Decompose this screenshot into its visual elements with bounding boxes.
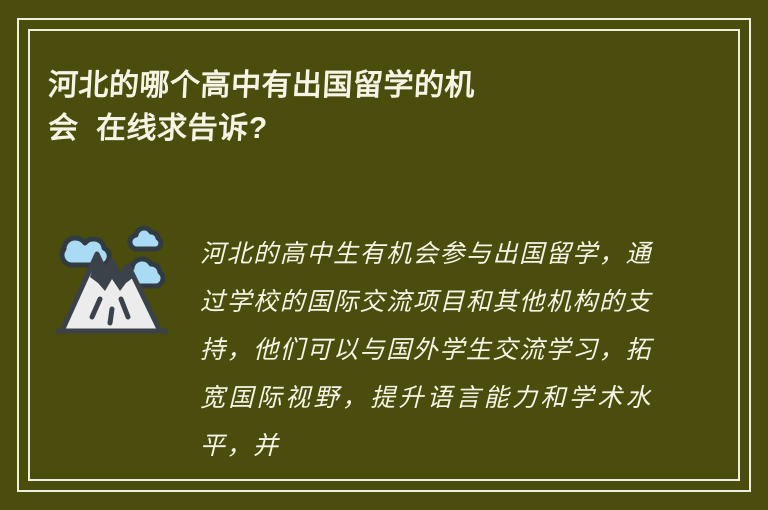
title-line-1: 河北的哪个高中有出国留学的机	[47, 64, 649, 107]
page-title: 河北的哪个高中有出国留学的机 会 在线求告诉?	[48, 64, 648, 150]
body-paragraph: 河北的高中生有机会参与出国留学，通过学校的国际交流项目和其他机构的支持，他们可以…	[200, 230, 652, 470]
cloud-top-right-icon	[130, 228, 161, 249]
article-card: 河北的哪个高中有出国留学的机 会 在线求告诉?	[0, 0, 768, 510]
title-line-2: 会 在线求告诉?	[47, 107, 649, 150]
mountain-with-clouds-graphic	[48, 213, 178, 343]
mountain-icon	[48, 213, 178, 343]
article-body: 河北的高中生有机会参与出国留学，通过学校的国际交流项目和其他机构的支持，他们可以…	[48, 205, 708, 495]
